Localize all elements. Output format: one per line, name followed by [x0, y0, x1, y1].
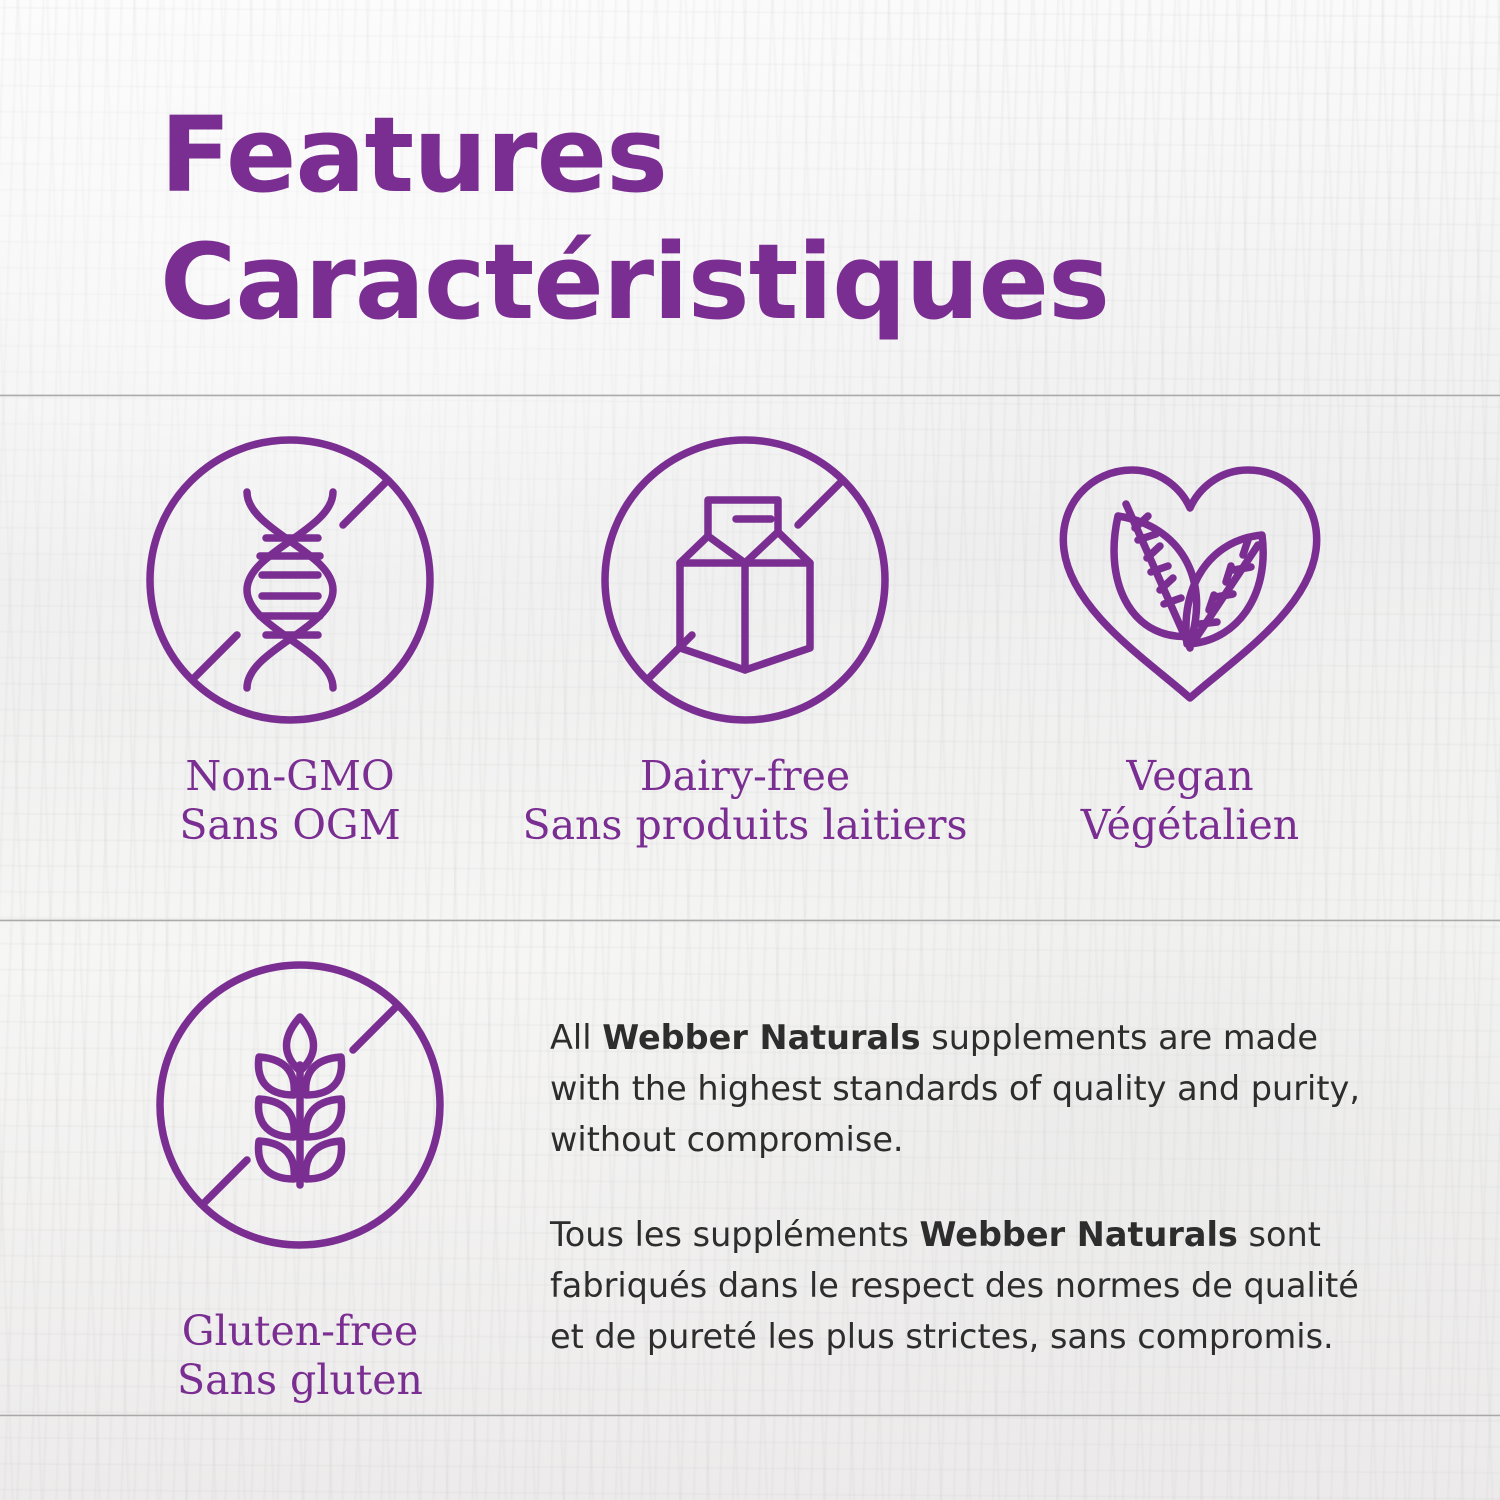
- feature-row-top: Non-GMO Sans OGM: [0, 430, 1500, 850]
- feature-label-fr: Végétalien: [1081, 801, 1299, 850]
- feature-item-vegan: Vegan Végétalien: [980, 430, 1400, 850]
- plank-seam-middle: [0, 919, 1500, 922]
- page-title-fr: Caractéristiques: [160, 219, 1109, 346]
- feature-label-en: Gluten-free: [177, 1307, 423, 1356]
- feature-label-gluten-free: Gluten-free Sans gluten: [177, 1307, 423, 1405]
- page-title: Features Caractéristiques: [160, 92, 1109, 346]
- page-title-en: Features: [160, 92, 1109, 219]
- feature-item-dairy-free: Dairy-free Sans produits laitiers: [510, 430, 980, 850]
- feature-row-bottom: Gluten-free Sans gluten All Webber Natur…: [0, 955, 1500, 1405]
- brand-statement-en: All Webber Naturals supplements are made…: [550, 1013, 1380, 1166]
- feature-item-non-gmo: Non-GMO Sans OGM: [70, 430, 510, 850]
- brand-statement-block: All Webber Naturals supplements are made…: [550, 955, 1380, 1405]
- no-dairy-carton-icon: [595, 430, 895, 730]
- feature-label-fr: Sans produits laitiers: [522, 801, 967, 850]
- statement-fr-before: Tous les suppléments: [550, 1215, 919, 1254]
- no-gluten-wheat-icon: [150, 955, 450, 1255]
- feature-label-en: Vegan: [1081, 752, 1299, 801]
- feature-label-non-gmo: Non-GMO Sans OGM: [179, 752, 400, 850]
- feature-label-fr: Sans OGM: [179, 801, 400, 850]
- no-gmo-dna-icon: [140, 430, 440, 730]
- brand-name-fr: Webber Naturals: [919, 1215, 1237, 1254]
- plank-seam-top: [0, 394, 1500, 397]
- feature-label-fr: Sans gluten: [177, 1356, 423, 1405]
- brand-name-en: Webber Naturals: [602, 1018, 920, 1057]
- brand-statement-fr: Tous les suppléments Webber Naturals son…: [550, 1210, 1380, 1363]
- feature-label-en: Non-GMO: [179, 752, 400, 801]
- feature-label-dairy-free: Dairy-free Sans produits laitiers: [522, 752, 967, 850]
- feature-item-gluten-free: Gluten-free Sans gluten: [70, 955, 530, 1405]
- feature-label-vegan: Vegan Végétalien: [1081, 752, 1299, 850]
- vegan-heart-leaf-icon: [1040, 430, 1340, 730]
- statement-en-before: All: [550, 1018, 602, 1057]
- plank-seam-bottom: [0, 1414, 1500, 1417]
- wood-background-panel: Features Caractéristiques: [0, 0, 1500, 1500]
- feature-label-en: Dairy-free: [522, 752, 967, 801]
